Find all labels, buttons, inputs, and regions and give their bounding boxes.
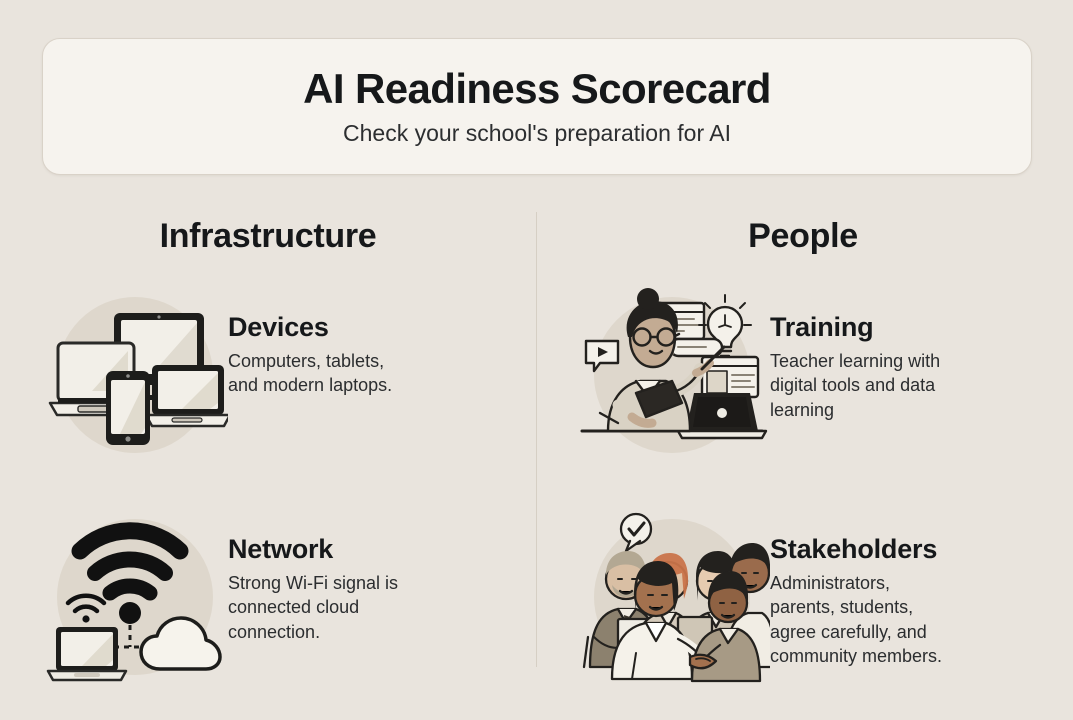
network-art xyxy=(42,507,228,687)
devices-text: Devices Computers, tablets, and modern l… xyxy=(228,285,392,397)
item-stakeholders[interactable]: Stakeholders Administrators, parents, st… xyxy=(574,507,1072,687)
item-title-network: Network xyxy=(228,535,398,565)
stakeholders-art xyxy=(574,507,770,687)
item-description-training: Teacher learning with digital tools and … xyxy=(770,349,940,422)
devices-art xyxy=(42,285,228,465)
teacher-training-illustration-icon xyxy=(574,285,770,465)
stakeholders-group-illustration-icon xyxy=(574,507,770,687)
page-subtitle: Check your school's preparation for AI xyxy=(343,121,731,146)
devices-illustration-icon xyxy=(42,285,228,465)
item-title-training: Training xyxy=(770,313,940,343)
page-title: AI Readiness Scorecard xyxy=(303,67,771,111)
item-description-stakeholders: Administrators, parents, students, agree… xyxy=(770,571,942,668)
column-title-infrastructure: Infrastructure xyxy=(42,200,536,255)
item-network[interactable]: Network Strong Wi-Fi signal is connected… xyxy=(42,507,536,687)
scorecard-page: AI Readiness Scorecard Check your school… xyxy=(0,0,1073,720)
training-art xyxy=(574,285,770,465)
training-text: Training Teacher learning with digital t… xyxy=(770,285,940,422)
item-training[interactable]: Training Teacher learning with digital t… xyxy=(574,285,1072,465)
item-title-devices: Devices xyxy=(228,313,392,343)
column-people: People xyxy=(536,200,1072,700)
item-title-stakeholders: Stakeholders xyxy=(770,535,942,565)
columns-container: Infrastructure xyxy=(0,200,1073,700)
network-text: Network Strong Wi-Fi signal is connected… xyxy=(228,507,398,644)
item-description-network: Strong Wi-Fi signal is connected cloud c… xyxy=(228,571,398,644)
header-card: AI Readiness Scorecard Check your school… xyxy=(42,38,1032,175)
column-title-people: People xyxy=(574,200,1072,255)
wifi-cloud-illustration-icon xyxy=(42,507,228,687)
item-devices[interactable]: Devices Computers, tablets, and modern l… xyxy=(42,285,536,465)
column-infrastructure: Infrastructure xyxy=(0,200,536,700)
stakeholders-text: Stakeholders Administrators, parents, st… xyxy=(770,507,942,668)
item-description-devices: Computers, tablets, and modern laptops. xyxy=(228,349,392,398)
